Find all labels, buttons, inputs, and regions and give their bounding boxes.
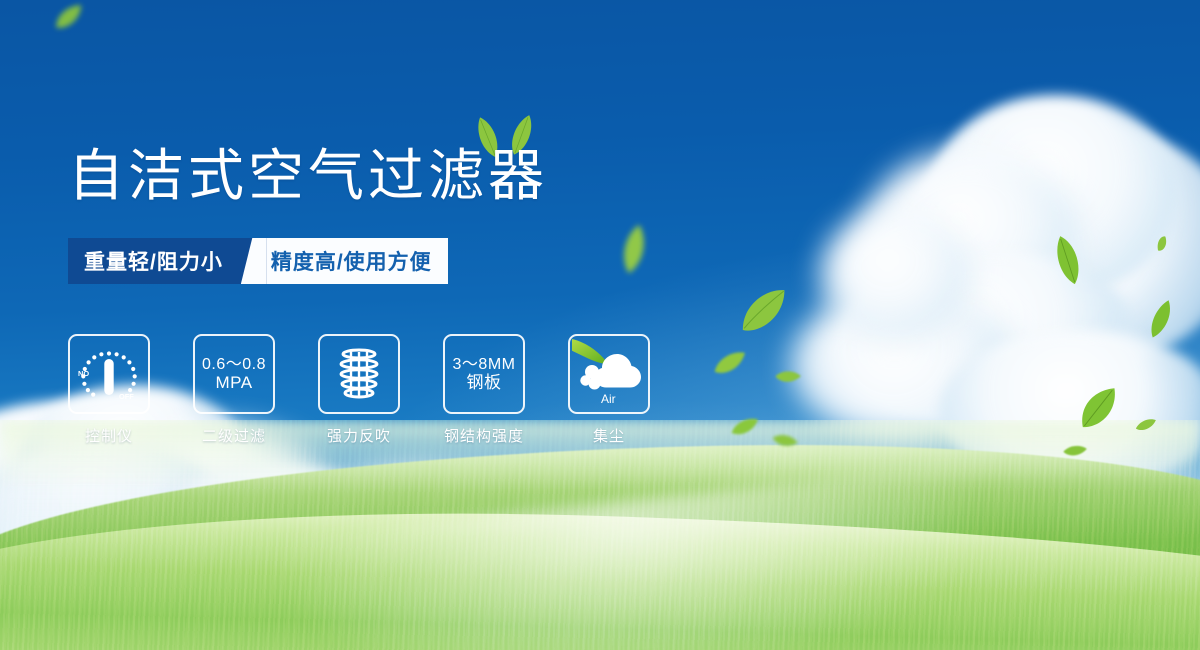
feature-label: 钢结构强度 (444, 425, 524, 446)
banner: 自洁式空气过滤器 重量轻/阻力小 精度高/使用方便 (0, 0, 1200, 650)
feature-icon-box (318, 334, 400, 414)
feature-icon-line2: 钢板 (453, 373, 516, 392)
steel-plate-text-icon: 3～8MM 钢板 (453, 356, 516, 393)
subtitle-bar: 重量轻/阻力小 精度高/使用方便 (68, 238, 448, 284)
gauge-icon: NO OFF (75, 343, 143, 405)
gauge-no-label: NO (78, 369, 89, 378)
feature-icon-line2: MPA (202, 373, 266, 392)
filter-coil-icon (333, 344, 385, 404)
leaf-streak (572, 338, 608, 364)
subtitle-divider (241, 238, 267, 284)
feature-icon-box: 0.6～0.8 MPA (193, 334, 275, 414)
banner-content: 自洁式空气过滤器 重量轻/阻力小 精度高/使用方便 (0, 0, 1200, 650)
feature-label: 强力反吹 (327, 425, 391, 446)
feature-list: NO OFF 控制仪 0.6～0.8 MPA 二级过滤 (68, 334, 650, 446)
subtitle-right: 精度高/使用方便 (267, 238, 448, 284)
feature-item-controller[interactable]: NO OFF 控制仪 (68, 334, 150, 446)
feature-item-steel[interactable]: 3～8MM 钢板 钢结构强度 (443, 334, 525, 446)
gauge-off-label: OFF (119, 392, 134, 401)
feature-icon-line1: 0.6～0.8 (202, 356, 266, 373)
feature-icon-box: NO OFF (68, 334, 150, 414)
feature-item-backblow[interactable]: 强力反吹 (318, 334, 400, 446)
feature-label: 二级过滤 (202, 425, 266, 446)
feature-item-pressure[interactable]: 0.6～0.8 MPA 二级过滤 (193, 334, 275, 446)
page-title: 自洁式空气过滤器 (68, 148, 548, 204)
air-caption: Air (601, 392, 616, 406)
pressure-text-icon: 0.6～0.8 MPA (202, 356, 266, 393)
feature-label: 集尘 (593, 425, 625, 446)
subtitle-left: 重量轻/阻力小 (68, 238, 241, 284)
air-cloud-icon: Air (572, 338, 646, 410)
feature-icon-line1: 3～8MM (453, 356, 516, 373)
feature-icon-box: Air (568, 334, 650, 414)
feature-item-dust[interactable]: Air 集尘 (568, 334, 650, 446)
feature-icon-box: 3～8MM 钢板 (443, 334, 525, 414)
feature-label: 控制仪 (85, 425, 133, 446)
